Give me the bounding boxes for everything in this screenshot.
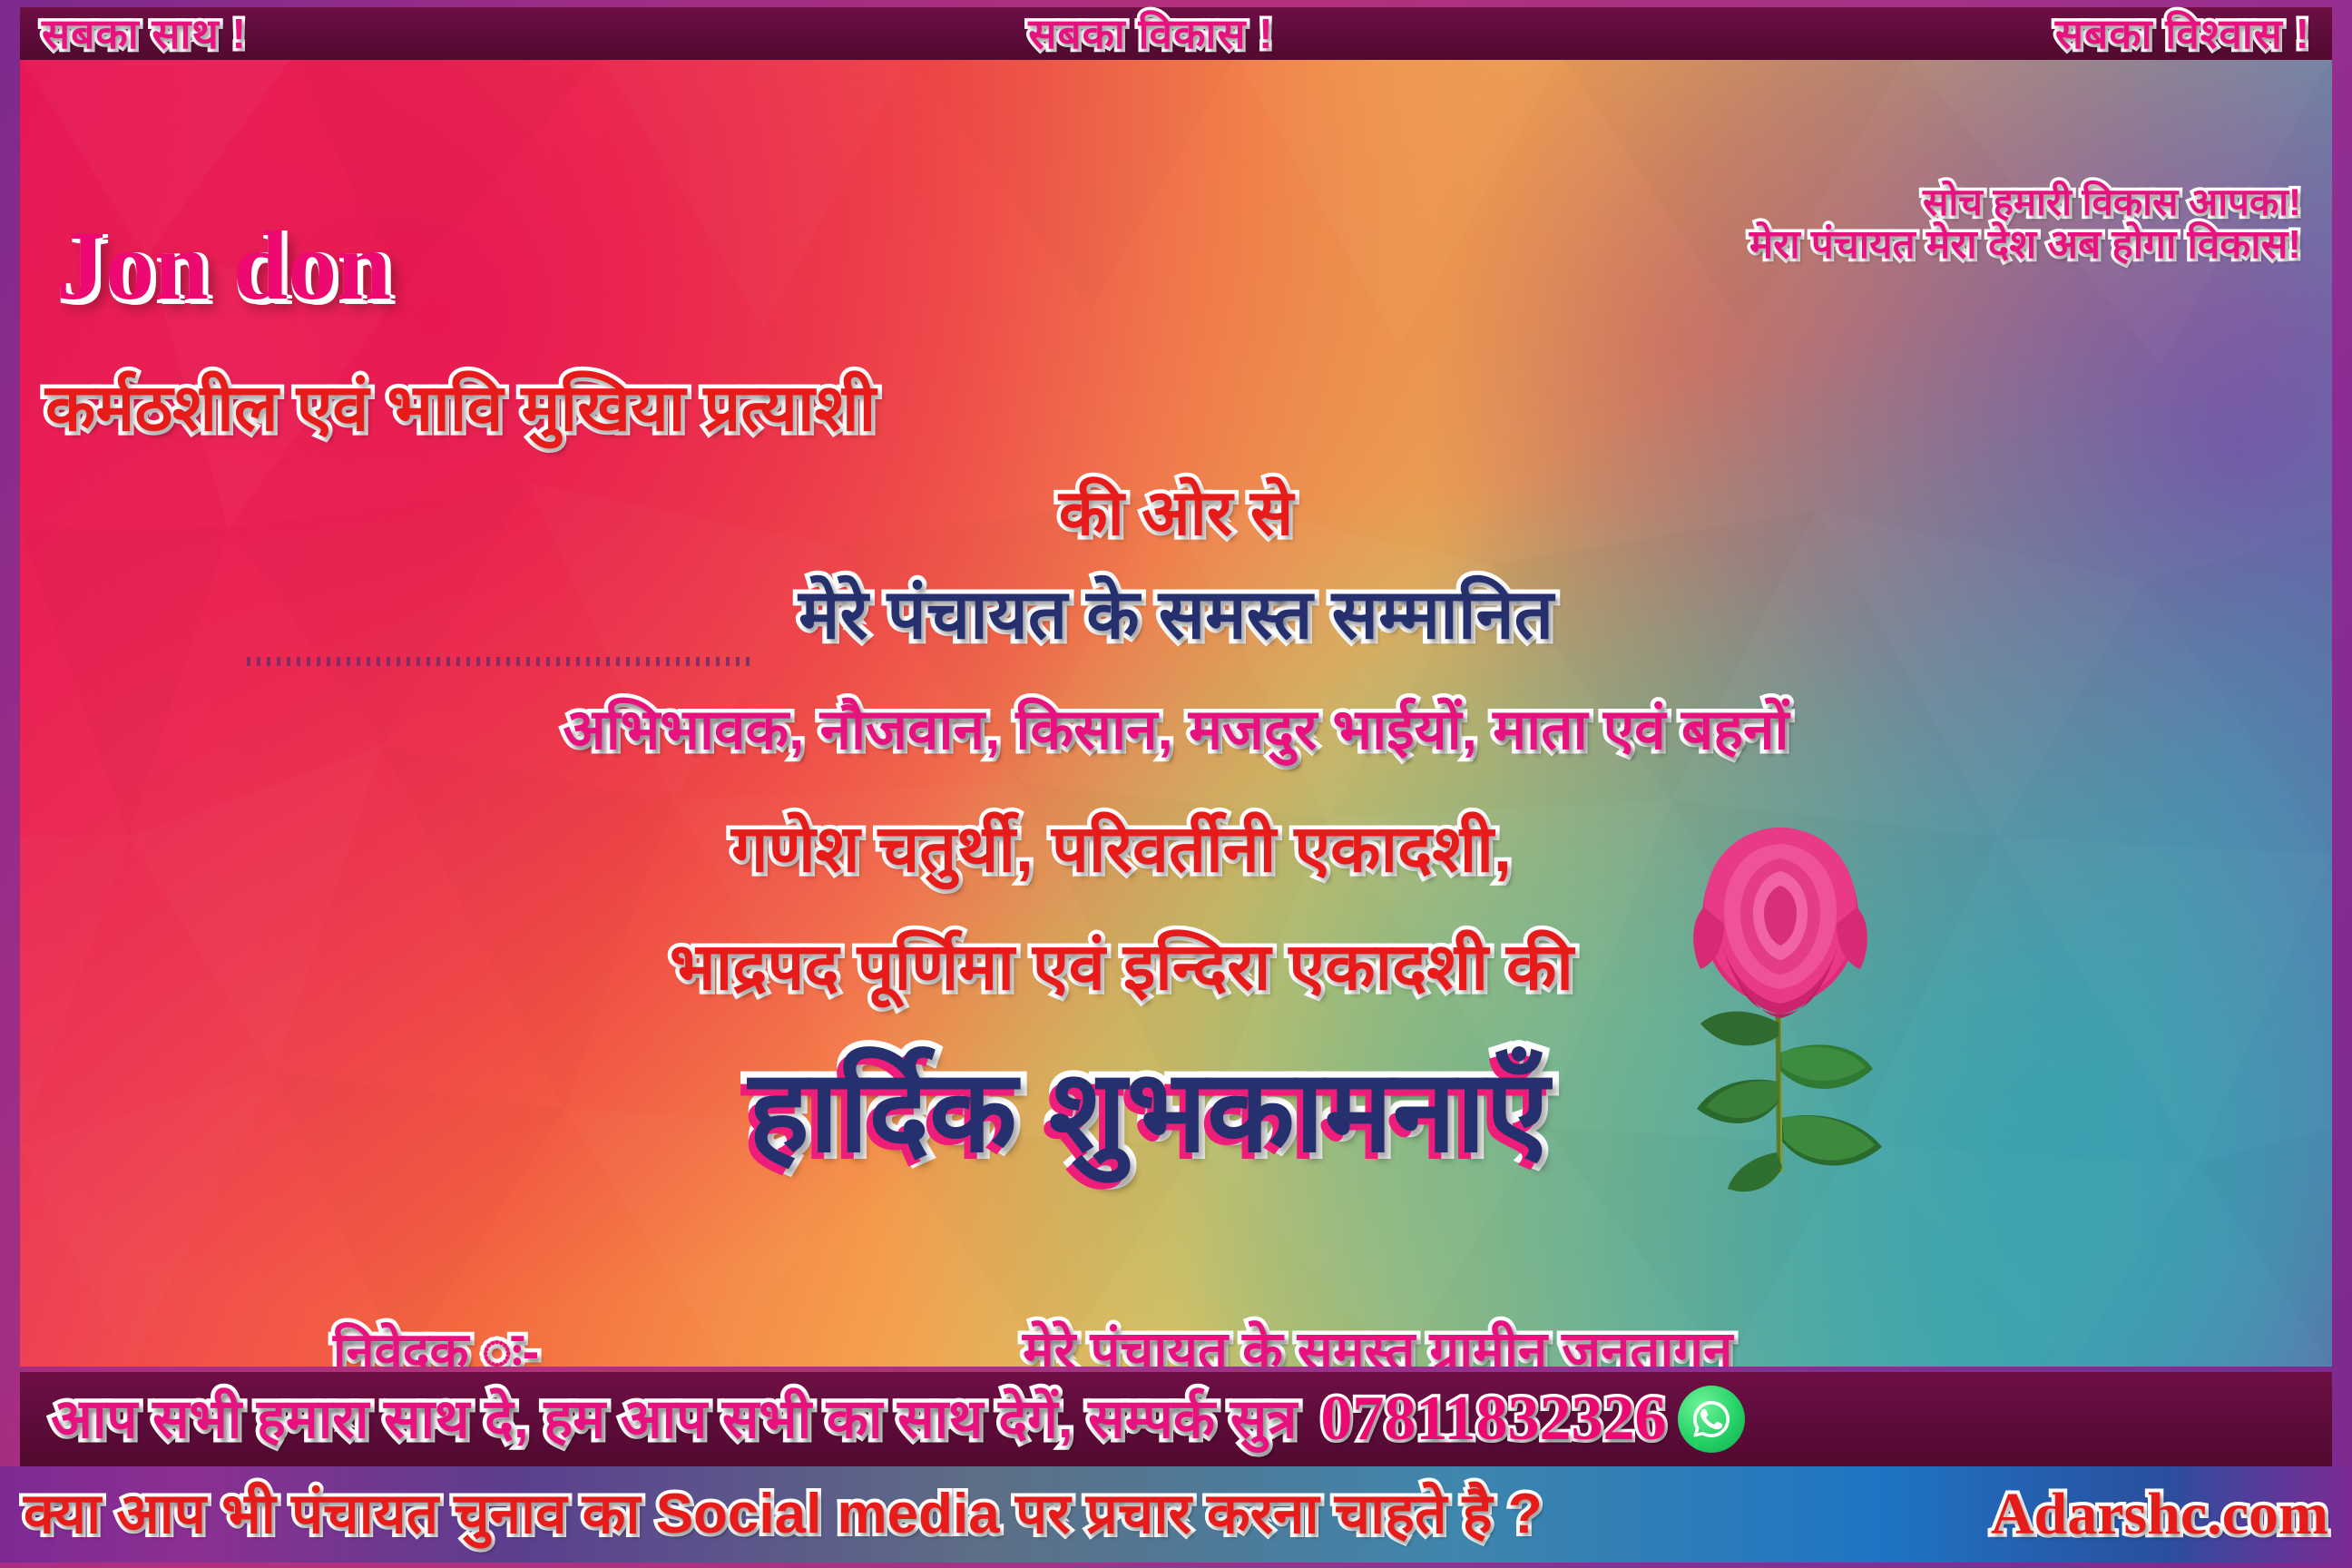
slogan-soch-hamari: सोच हमारी विकास आपका!	[1923, 183, 2301, 221]
audience-line-2: अभिभावक, नौजवान, किसान, मजदुर भाईयों, मा…	[20, 702, 2332, 759]
header-slogan-row: सबका साथ ! सबका विकास ! सबका विश्वास !	[20, 7, 2332, 60]
contact-ribbon-content: आप सभी हमारा साथ दे, हम आप सभी का साथ दे…	[20, 1372, 2332, 1466]
audience-line-1: मेरे पंचायत के समस्त सम्मानित	[20, 581, 2332, 650]
promo-message: क्या आप भी पंचायत चुनाव का Social media …	[24, 1486, 1543, 1543]
slogan-mera-panchayat: मेरा पंचायत मेरा देश अब होगा विकास!	[1749, 225, 2301, 265]
greeting-poster: Jon don सोच हमारी विकास आपका! मेरा पंचाय…	[0, 0, 2352, 1568]
contact-ribbon: आप सभी हमारा साथ दे, हम आप सभी का साथ दे…	[20, 1372, 2332, 1466]
poster-art-panel: Jon don सोच हमारी विकास आपका! मेरा पंचाय…	[20, 56, 2332, 1367]
contact-message: आप सभी हमारा साथ दे, हम आप सभी का साथ दे…	[51, 1392, 1297, 1446]
wish-headline: हार्दिक शुभकामनाएँ	[20, 1054, 2332, 1169]
submitter-label: निवेदक ः-	[333, 1326, 539, 1367]
promo-ribbon: क्या आप भी पंचायत चुनाव का Social media …	[0, 1466, 2352, 1563]
slogan-sabka-vishwas: सबका विश्वास !	[2055, 13, 2310, 54]
festival-line-2: भाद्रपद पूर्णिमा एवं इन्दिरा एकादशी की	[20, 935, 2332, 1000]
top-right-slogan-group: सोच हमारी विकास आपका! मेरा पंचायत मेरा द…	[1749, 183, 2301, 265]
slogan-sabka-vikas: सबका विकास !	[1028, 13, 1273, 54]
submitter-value: मेरे पंचायत के समस्त ग्रामीन जनतागन	[1023, 1325, 1732, 1367]
submitter-row: निवेदक ः- मेरे पंचायत के समस्त ग्रामीन ज…	[20, 1310, 2332, 1367]
contact-phone-number[interactable]: 07811832326	[1320, 1383, 1666, 1455]
promo-ribbon-content: क्या आप भी पंचायत चुनाव का Social media …	[0, 1466, 2352, 1563]
candidate-name: Jon don	[56, 218, 391, 316]
dotted-divider-top	[247, 657, 755, 666]
promo-website[interactable]: Adarshc.com	[1991, 1480, 2328, 1549]
from-label: की ओर से	[20, 481, 2332, 544]
candidate-designation: कर्मठशील एवं भावि मुखिया प्रत्याशी	[45, 376, 876, 441]
slogan-sabka-saath: सबका साथ !	[42, 13, 247, 54]
whatsapp-icon[interactable]	[1678, 1386, 1745, 1453]
festival-line-1: गणेश चतुर्थी, परिवर्तीनी एकादशी,	[20, 817, 2332, 882]
